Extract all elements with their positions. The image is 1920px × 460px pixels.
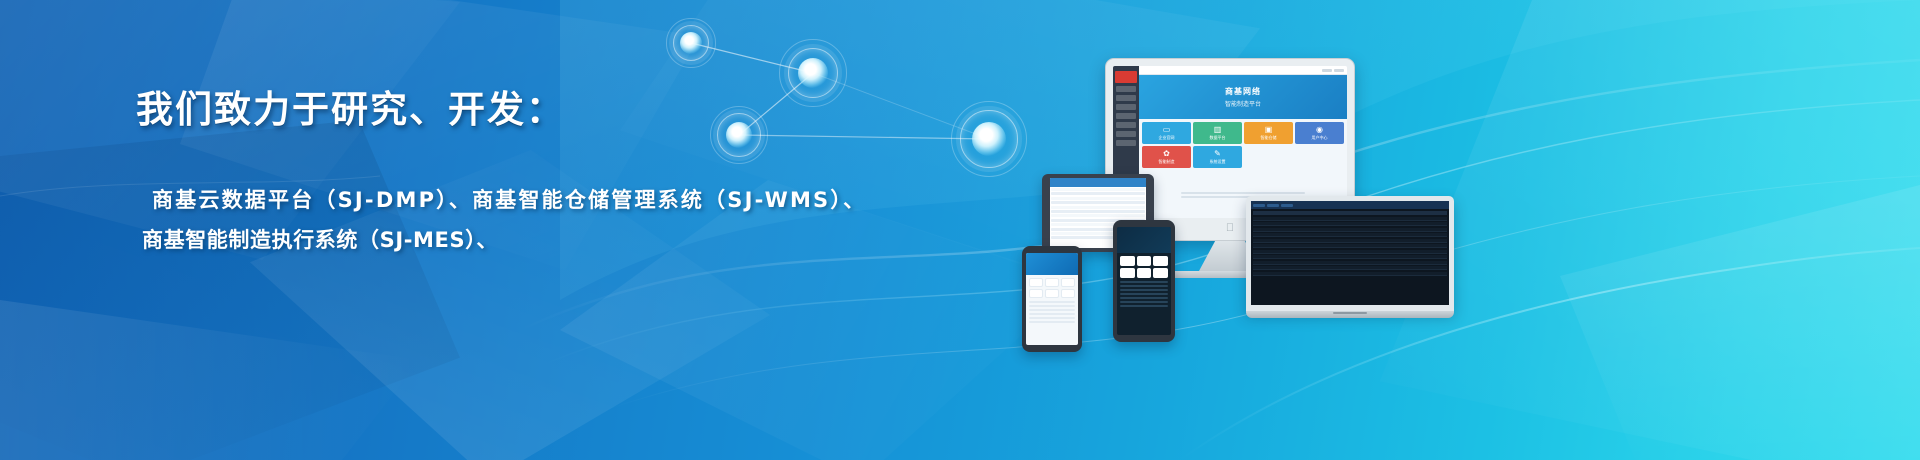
sidebar-item-2[interactable] xyxy=(1116,104,1136,110)
dashboard-tile-3[interactable]: ◉ 用户中心 xyxy=(1295,122,1344,144)
table-row xyxy=(1051,214,1145,217)
tile-label-2: 智能仓储 xyxy=(1261,135,1277,141)
sidebar-item-4[interactable] xyxy=(1116,122,1136,128)
tile-label-3: 用户中心 xyxy=(1312,135,1328,141)
banner-copy: 我们致力于研究、开发： 商基云数据平台（SJ-DMP）、商基智能仓储管理系统（S… xyxy=(136,88,956,260)
app-icon[interactable] xyxy=(1153,268,1168,278)
dashboard-tile-1[interactable]: ▥ 数据平台 xyxy=(1193,122,1242,144)
tile-label-1: 数据平台 xyxy=(1210,135,1226,141)
hero-banner: 我们致力于研究、开发： 商基云数据平台（SJ-DMP）、商基智能仓储管理系统（S… xyxy=(0,0,1920,460)
sidebar-item-6[interactable] xyxy=(1116,140,1136,146)
topbar-user-icon[interactable] xyxy=(1334,69,1344,72)
list-item xyxy=(1120,285,1168,287)
sidebar-item-1[interactable] xyxy=(1116,95,1136,101)
table-row xyxy=(1253,217,1447,221)
table-row xyxy=(1051,192,1145,195)
tile-label-4: 智能制造 xyxy=(1159,159,1175,165)
phone-tall-screen xyxy=(1117,227,1171,335)
page-title: 我们致力于研究、开发： xyxy=(136,88,956,132)
network-node-2 xyxy=(798,58,828,88)
tile-label-0: 企业官网 xyxy=(1159,135,1175,141)
monitor-icon: ▭ xyxy=(1163,126,1171,134)
sidebar-item-3[interactable] xyxy=(1116,113,1136,119)
table-row xyxy=(1253,244,1447,248)
device-mockup-cluster: 商基网络 智能制造平台 ▭ 企业官网 ▥ 数据平台 xyxy=(1010,46,1480,346)
table-row xyxy=(1051,201,1145,204)
app-icon[interactable] xyxy=(1045,289,1059,298)
list-item xyxy=(1029,321,1075,323)
header-chip xyxy=(1267,204,1279,207)
dashboard-tiles: ▭ 企业官网 ▥ 数据平台 ▣ 智能仓储 xyxy=(1139,119,1347,171)
table-row xyxy=(1051,210,1145,213)
pencil-icon: ✎ xyxy=(1214,150,1221,158)
laptop-app-header xyxy=(1251,201,1449,209)
app-icon[interactable] xyxy=(1029,278,1043,287)
app-icon[interactable] xyxy=(1153,256,1168,266)
app-icon[interactable] xyxy=(1029,289,1043,298)
phone-tall-list xyxy=(1117,281,1171,307)
dashboard-hero-title: 商基网络 xyxy=(1225,86,1261,97)
chart-icon: ▥ xyxy=(1214,126,1222,134)
topbar-search-icon[interactable] xyxy=(1322,69,1332,72)
network-node-1 xyxy=(680,32,702,54)
list-item xyxy=(1029,309,1075,311)
phone-small-device xyxy=(1022,246,1082,352)
table-row xyxy=(1253,250,1447,254)
network-node-4 xyxy=(972,122,1006,156)
gear-icon: ✿ xyxy=(1163,150,1170,158)
box-icon: ▣ xyxy=(1265,126,1273,134)
table-row xyxy=(1051,206,1145,209)
list-item xyxy=(1029,313,1075,315)
dashboard-tile-0[interactable]: ▭ 企业官网 xyxy=(1142,122,1191,144)
app-icon[interactable] xyxy=(1137,256,1152,266)
header-chip xyxy=(1281,204,1293,207)
laptop-screen xyxy=(1251,201,1449,305)
laptop-table xyxy=(1251,209,1449,279)
list-item xyxy=(1120,293,1168,295)
footer-line-1 xyxy=(1181,192,1306,194)
product-line-1: 商基云数据平台（SJ-DMP）、商基智能仓储管理系统（SJ-WMS）、 xyxy=(136,180,956,220)
list-item xyxy=(1029,317,1075,319)
table-row xyxy=(1253,261,1447,265)
phone-tall-app-grid xyxy=(1117,253,1171,281)
header-chip xyxy=(1253,204,1265,207)
phone-small-list xyxy=(1026,301,1078,323)
list-item xyxy=(1120,301,1168,303)
list-item xyxy=(1120,289,1168,291)
list-item xyxy=(1120,305,1168,307)
dashboard-hero: 商基网络 智能制造平台 xyxy=(1139,75,1347,119)
tile-label-5: 系统设置 xyxy=(1210,159,1226,165)
tablet-header xyxy=(1050,178,1146,187)
table-row xyxy=(1051,188,1145,191)
dashboard-topbar xyxy=(1139,66,1347,75)
table-row xyxy=(1253,233,1447,237)
table-row xyxy=(1051,197,1145,200)
table-row xyxy=(1253,222,1447,226)
app-icon[interactable] xyxy=(1120,256,1135,266)
dashboard-tile-2[interactable]: ▣ 智能仓储 xyxy=(1244,122,1293,144)
dashboard-hero-subtitle: 智能制造平台 xyxy=(1225,99,1261,108)
phone-small-app-grid xyxy=(1026,275,1078,301)
app-icon[interactable] xyxy=(1137,268,1152,278)
product-list: 商基云数据平台（SJ-DMP）、商基智能仓储管理系统（SJ-WMS）、 商基智能… xyxy=(136,180,956,260)
app-icon[interactable] xyxy=(1120,268,1135,278)
table-header-row xyxy=(1253,211,1447,215)
table-row xyxy=(1253,239,1447,243)
phone-small-screen xyxy=(1026,253,1078,345)
dashboard-tile-4[interactable]: ✿ 智能制造 xyxy=(1142,146,1191,168)
laptop-device xyxy=(1246,196,1454,318)
dashboard-tile-5[interactable]: ✎ 系统设置 xyxy=(1193,146,1242,168)
product-line-2: 商基智能制造执行系统（SJ-MES）、 xyxy=(136,220,956,260)
user-icon: ◉ xyxy=(1316,126,1323,134)
laptop-base xyxy=(1246,311,1454,318)
app-icon[interactable] xyxy=(1045,278,1059,287)
phone-tall-device xyxy=(1113,220,1175,342)
list-item xyxy=(1029,305,1075,307)
app-icon[interactable] xyxy=(1061,278,1075,287)
dashboard-logo xyxy=(1115,71,1137,83)
table-row xyxy=(1253,272,1447,276)
table-row xyxy=(1253,255,1447,259)
table-row xyxy=(1253,228,1447,232)
list-item xyxy=(1029,301,1075,303)
list-item xyxy=(1120,281,1168,283)
sidebar-item-5[interactable] xyxy=(1116,131,1136,137)
phone-small-header xyxy=(1026,253,1078,275)
app-icon[interactable] xyxy=(1061,289,1075,298)
list-item xyxy=(1120,297,1168,299)
table-row xyxy=(1253,266,1447,270)
sidebar-item-0[interactable] xyxy=(1116,86,1136,92)
phone-tall-header xyxy=(1117,227,1171,253)
